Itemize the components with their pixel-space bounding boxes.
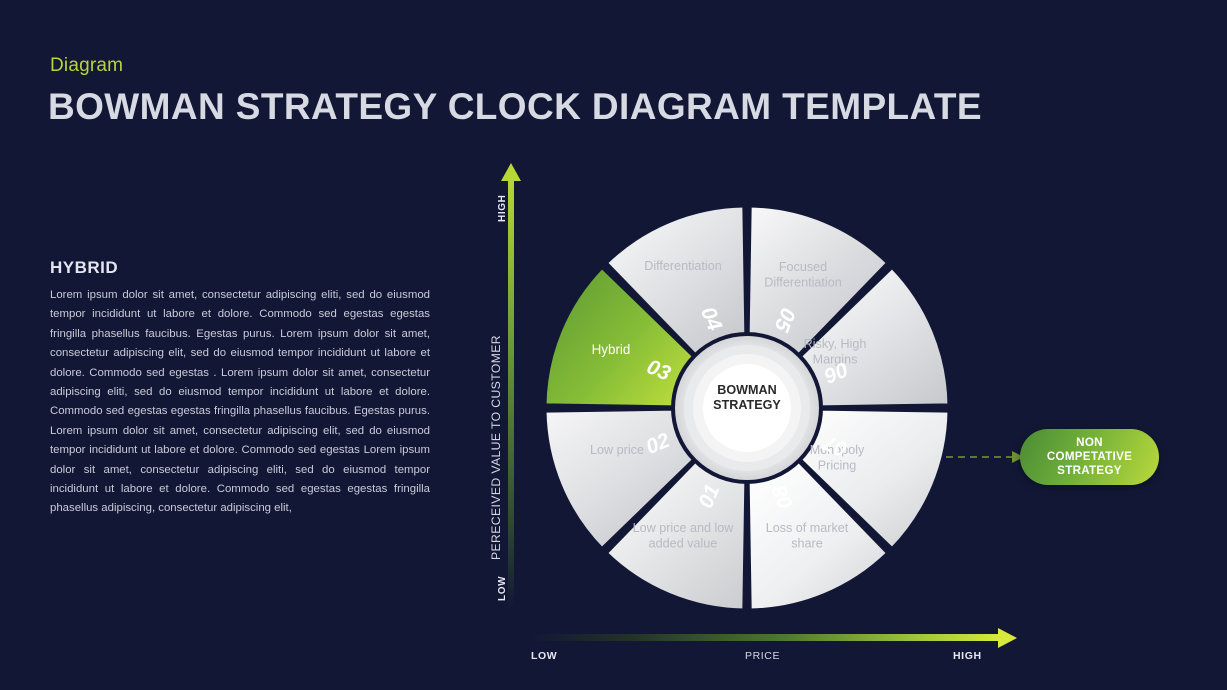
axis-x-title: PRICE <box>745 650 780 662</box>
slide-canvas: Diagram BOWMAN STRATEGY CLOCK DIAGRAM TE… <box>0 0 1227 690</box>
axis-shaft-horizontal <box>527 634 999 641</box>
svg-text:PERECEIVED VALUE TO CUSTOMER: PERECEIVED VALUE TO CUSTOMER <box>489 335 503 560</box>
callout-label: NON COMPETATIVE STRATEGY <box>1047 436 1132 478</box>
non-competitive-strategy-callout[interactable]: NON COMPETATIVE STRATEGY <box>1020 429 1159 485</box>
panel-heading: HYBRID <box>50 258 118 278</box>
price-axis-arrow <box>527 628 1017 648</box>
segment-label-03: Hybrid <box>592 342 631 357</box>
page-title: BOWMAN STRATEGY CLOCK DIAGRAM TEMPLATE <box>48 86 982 128</box>
axis-y-title: PERECEIVED VALUE TO CUSTOMER <box>480 160 520 620</box>
axis-arrowhead-right-icon <box>998 628 1017 648</box>
panel-body-text: Lorem ipsum dolor sit amet, consectetur … <box>50 286 430 519</box>
segment-label-02: Low price <box>590 443 644 457</box>
callout-connector <box>946 450 1026 464</box>
segment-label-04: Differentiation <box>644 259 721 273</box>
axis-x-low-label: LOW <box>531 650 557 662</box>
hub-label: BOWMAN STRATEGY <box>699 383 795 413</box>
slide-kicker: Diagram <box>50 55 123 77</box>
axis-x-high-label: HIGH <box>953 650 982 662</box>
